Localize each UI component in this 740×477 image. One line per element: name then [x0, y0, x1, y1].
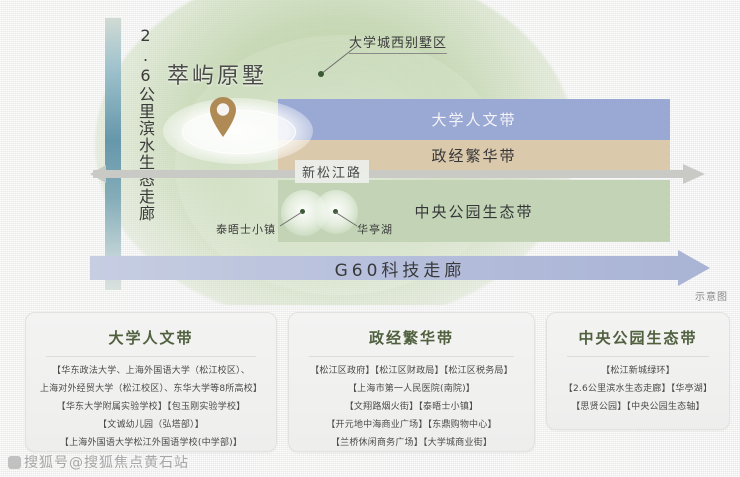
card-line: 【松江区政府】【松江区财政局】【松江区税务局】	[295, 365, 528, 378]
watermark-text: 搜狐号@搜狐焦点黄石站	[24, 455, 189, 471]
card-line: 【兰桥休闲商务广场】【大学城商业街】	[295, 437, 528, 450]
corridor-vertical-label: 2.6公里滨水生态走廊	[126, 26, 156, 222]
card-divider	[309, 356, 514, 357]
card-line: 【松江新城绿环】	[553, 365, 723, 378]
g60-corridor-arrow	[90, 250, 710, 286]
card-line: 【华东大学附属实验学校】【包玉刚实验学校】	[32, 401, 270, 414]
card-line: 【文翔路烟火街】【泰晤士小镇】	[295, 401, 528, 414]
card-line: 上海对外经贸大学（松江校区）、东华大学等8所高校】	[32, 383, 270, 396]
card-line: 【开元地中海商业广场】【东鼎购物中心】	[295, 419, 528, 432]
callout-villa-label: 大学城西别墅区	[349, 32, 447, 54]
road-arrow-right	[93, 164, 705, 184]
schematic-note: 示意图	[695, 288, 728, 303]
road-label-xinsongjiang: 新松江路	[295, 160, 369, 183]
band-label-park: 中央公园生态带	[414, 201, 533, 222]
project-halo-ring	[182, 110, 296, 154]
leader-line-thames	[278, 210, 304, 228]
card-title-government: 政经繁华带	[295, 327, 528, 348]
card-government-commerce: 政经繁华带 【松江区政府】【松江区财政局】【松江区税务局】 【上海市第一人民医院…	[288, 312, 535, 452]
card-line: 【上海外国语大学松江外国语学校(中学部)】	[32, 437, 270, 450]
card-divider	[567, 356, 709, 357]
callout-villa-district: 大学城西别墅区	[349, 32, 447, 54]
leader-line-huating	[333, 210, 359, 228]
band-label-university: 大学人文带	[431, 109, 516, 130]
sohu-logo-icon	[8, 456, 21, 469]
watermark: 搜狐号@搜狐焦点黄石站	[8, 452, 189, 472]
project-name: 萃屿原墅	[167, 58, 267, 90]
map-pin-icon	[208, 95, 238, 139]
spot-label-huating: 华亭湖	[357, 221, 393, 237]
card-line: 【2.6公里滨水生态走廊】【华亭湖】	[553, 383, 723, 396]
card-line: 【华东政法大学、上海外国语大学（松江校区）、	[32, 365, 270, 378]
card-divider	[46, 356, 256, 357]
band-university-culture: 大学人文带	[278, 99, 670, 140]
callout-dot-villa	[318, 71, 324, 77]
schematic-diagram: 2.6公里滨水生态走廊 大学人文带 政经繁华带 中央公园生态带 萃屿原墅 新松江…	[0, 0, 740, 305]
card-line: 【思贤公园】【中央公园生态轴】	[553, 401, 723, 414]
spot-label-thames: 泰晤士小镇	[216, 221, 276, 237]
card-title-university: 大学人文带	[32, 327, 270, 348]
card-university-culture: 大学人文带 【华东政法大学、上海外国语大学（松江校区）、 上海对外经贸大学（松江…	[25, 312, 277, 452]
band-label-government: 政经繁华带	[431, 145, 516, 166]
legend-card-group: 大学人文带 【华东政法大学、上海外国语大学（松江校区）、 上海对外经贸大学（松江…	[0, 312, 740, 452]
card-line: 【文诚幼儿园（弘塔部）】	[32, 419, 270, 432]
card-central-park-eco: 中央公园生态带 【松江新城绿环】 【2.6公里滨水生态走廊】【华亭湖】 【思贤公…	[546, 312, 730, 430]
card-title-park: 中央公园生态带	[553, 327, 723, 348]
card-line: 【上海市第一人民医院(南院)】	[295, 383, 528, 396]
